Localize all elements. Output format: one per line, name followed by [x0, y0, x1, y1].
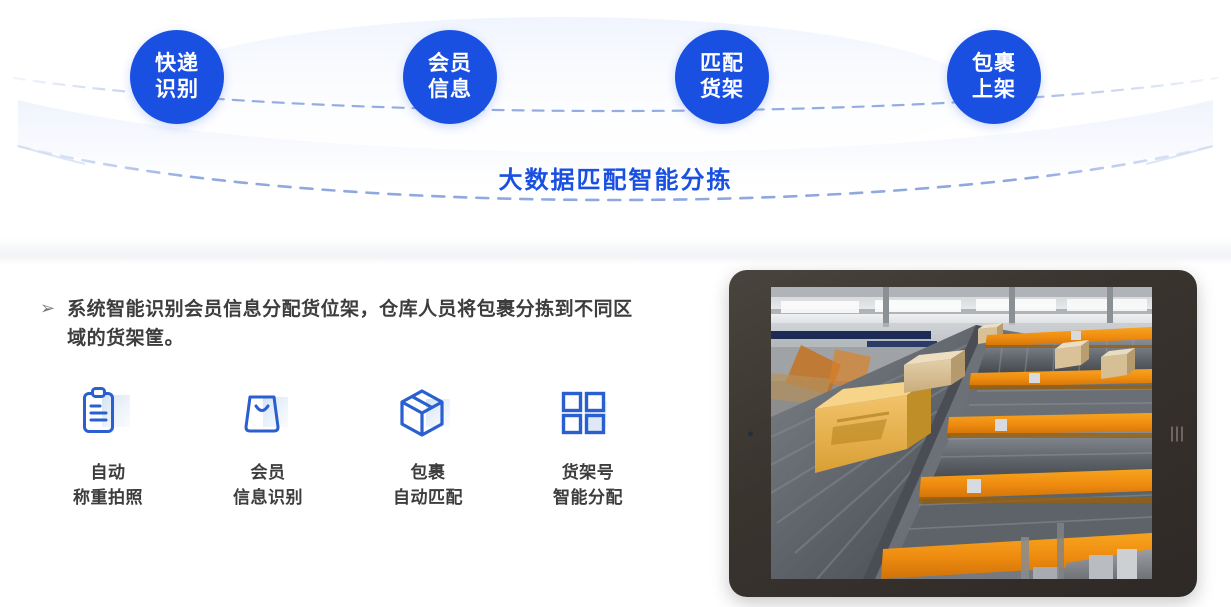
flow-node-parcel-shelving[interactable]: 包裹 上架 — [947, 30, 1041, 124]
bullet-paragraph-text: 系统智能识别会员信息分配货位架，仓库人员将包裹分拣到不同区域的货架筐。 — [67, 295, 650, 354]
warehouse-conveyor-photo — [771, 287, 1152, 579]
shopping-bag-icon — [236, 385, 300, 441]
tablet-screen[interactable] — [771, 287, 1152, 579]
feature-label-line1: 自动 — [73, 461, 143, 486]
feature-label-line2: 自动匹配 — [393, 486, 463, 511]
tablet-home-indicator-icon[interactable] — [1171, 426, 1183, 441]
feature-label-line1: 货架号 — [553, 461, 623, 486]
flow-node-line2: 信息 — [428, 77, 472, 103]
arrow-bullet-icon: ➢ — [40, 295, 55, 323]
feature-label-line1: 会员 — [233, 461, 303, 486]
process-flow-section: 快递 识别 会员 信息 匹配 货架 包裹 上架 大数据匹配智能分拣 — [0, 0, 1231, 245]
clipboard-icon — [76, 385, 140, 441]
flow-node-line2: 上架 — [972, 77, 1016, 103]
package-box-icon — [396, 385, 460, 441]
flow-node-express-recognition[interactable]: 快递 识别 — [130, 30, 224, 124]
feature-label-line1: 包裹 — [393, 461, 463, 486]
feature-item-parcel-matching[interactable]: 包裹 自动匹配 — [348, 385, 508, 510]
flow-node-line1: 匹配 — [700, 51, 744, 77]
bullet-paragraph: ➢ 系统智能识别会员信息分配货位架，仓库人员将包裹分拣到不同区域的货架筐。 — [40, 295, 650, 354]
flow-node-line2: 识别 — [155, 77, 199, 103]
flow-node-line1: 快递 — [155, 51, 199, 77]
grid-squares-icon — [556, 385, 620, 441]
feature-item-label: 包裹 自动匹配 — [393, 461, 463, 510]
description-section: ➢ 系统智能识别会员信息分配货位架，仓库人员将包裹分拣到不同区域的货架筐。 — [0, 280, 700, 560]
feature-label-line2: 信息识别 — [233, 486, 303, 511]
feature-item-label: 自动 称重拍照 — [73, 461, 143, 510]
flow-node-match-shelf[interactable]: 匹配 货架 — [675, 30, 769, 124]
feature-label-line2: 智能分配 — [553, 486, 623, 511]
tablet-device — [729, 270, 1197, 597]
flow-node-line1: 会员 — [428, 51, 472, 77]
feature-label-line2: 称重拍照 — [73, 486, 143, 511]
feature-item-shelf-number-allocation[interactable]: 货架号 智能分配 — [508, 385, 668, 510]
flow-node-line1: 包裹 — [972, 51, 1016, 77]
feature-item-label: 货架号 智能分配 — [553, 461, 623, 510]
flow-caption: 大数据匹配智能分拣 — [0, 160, 1231, 195]
flow-node-member-info[interactable]: 会员 信息 — [403, 30, 497, 124]
feature-item-member-recognition[interactable]: 会员 信息识别 — [188, 385, 348, 510]
feature-item-label: 会员 信息识别 — [233, 461, 303, 510]
tablet-camera-icon — [748, 431, 753, 436]
flow-node-line2: 货架 — [700, 77, 744, 103]
feature-item-auto-weighing[interactable]: 自动 称重拍照 — [28, 385, 188, 510]
section-divider — [0, 238, 1231, 264]
feature-list: 自动 称重拍照 会员 — [28, 385, 668, 510]
